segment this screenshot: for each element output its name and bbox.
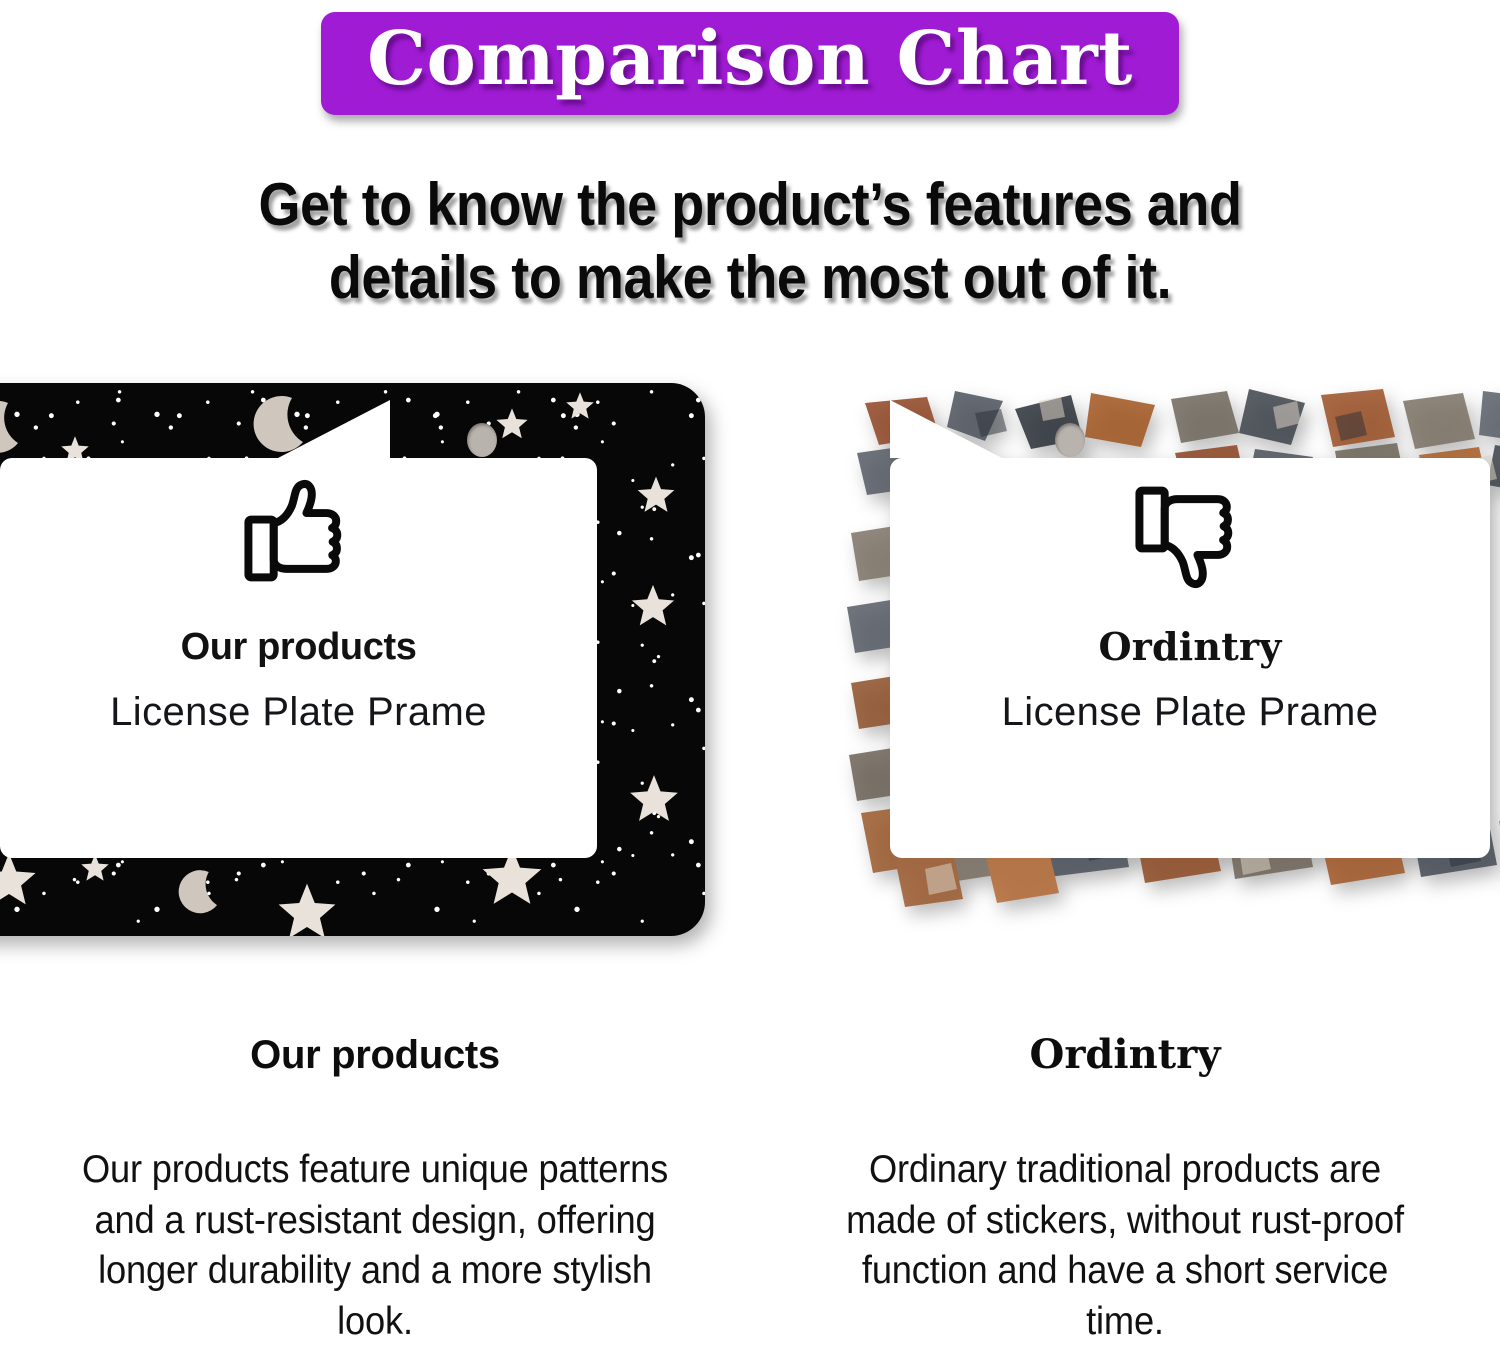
- our-product-frame: Our products License Plate Prame: [0, 383, 705, 936]
- our-product-plate-brand: Our products: [181, 628, 417, 666]
- our-product-column-title: Our products: [52, 1035, 698, 1075]
- ordinary-product-plate-brand: Ordintry: [1098, 628, 1281, 666]
- thumbs-down-icon: [1132, 478, 1248, 590]
- comparison-chart-page: Comparison Chart Get to know the product…: [0, 0, 1500, 1364]
- ordinary-product-plate-content: Ordintry License Plate Prame: [890, 478, 1490, 732]
- ordinary-product-plate-subtitle: License Plate Prame: [1002, 692, 1379, 732]
- plate-corner-chamfer: [890, 400, 1002, 458]
- thumbs-up-icon: [241, 478, 357, 590]
- plate-corner-chamfer: [278, 400, 390, 458]
- ordinary-product-column-title: Ordintry: [802, 1035, 1448, 1075]
- mounting-hole-icon: [467, 423, 497, 457]
- our-product-column-body: Our products feature unique patterns and…: [75, 1145, 676, 1348]
- our-product-plate-content: Our products License Plate Prame: [0, 478, 597, 732]
- mounting-hole-icon: [1055, 423, 1085, 457]
- our-product-column: Our products Our products feature unique…: [0, 1035, 750, 1348]
- ordinary-product-column: Ordintry Ordinary traditional products a…: [750, 1035, 1500, 1348]
- comparison-columns: Our products Our products feature unique…: [0, 1035, 1500, 1348]
- ordinary-product-frame: Ordintry License Plate Prame: [835, 383, 1500, 936]
- ordinary-product-column-body: Ordinary traditional products are made o…: [825, 1145, 1426, 1348]
- our-product-plate-subtitle: License Plate Prame: [110, 692, 487, 732]
